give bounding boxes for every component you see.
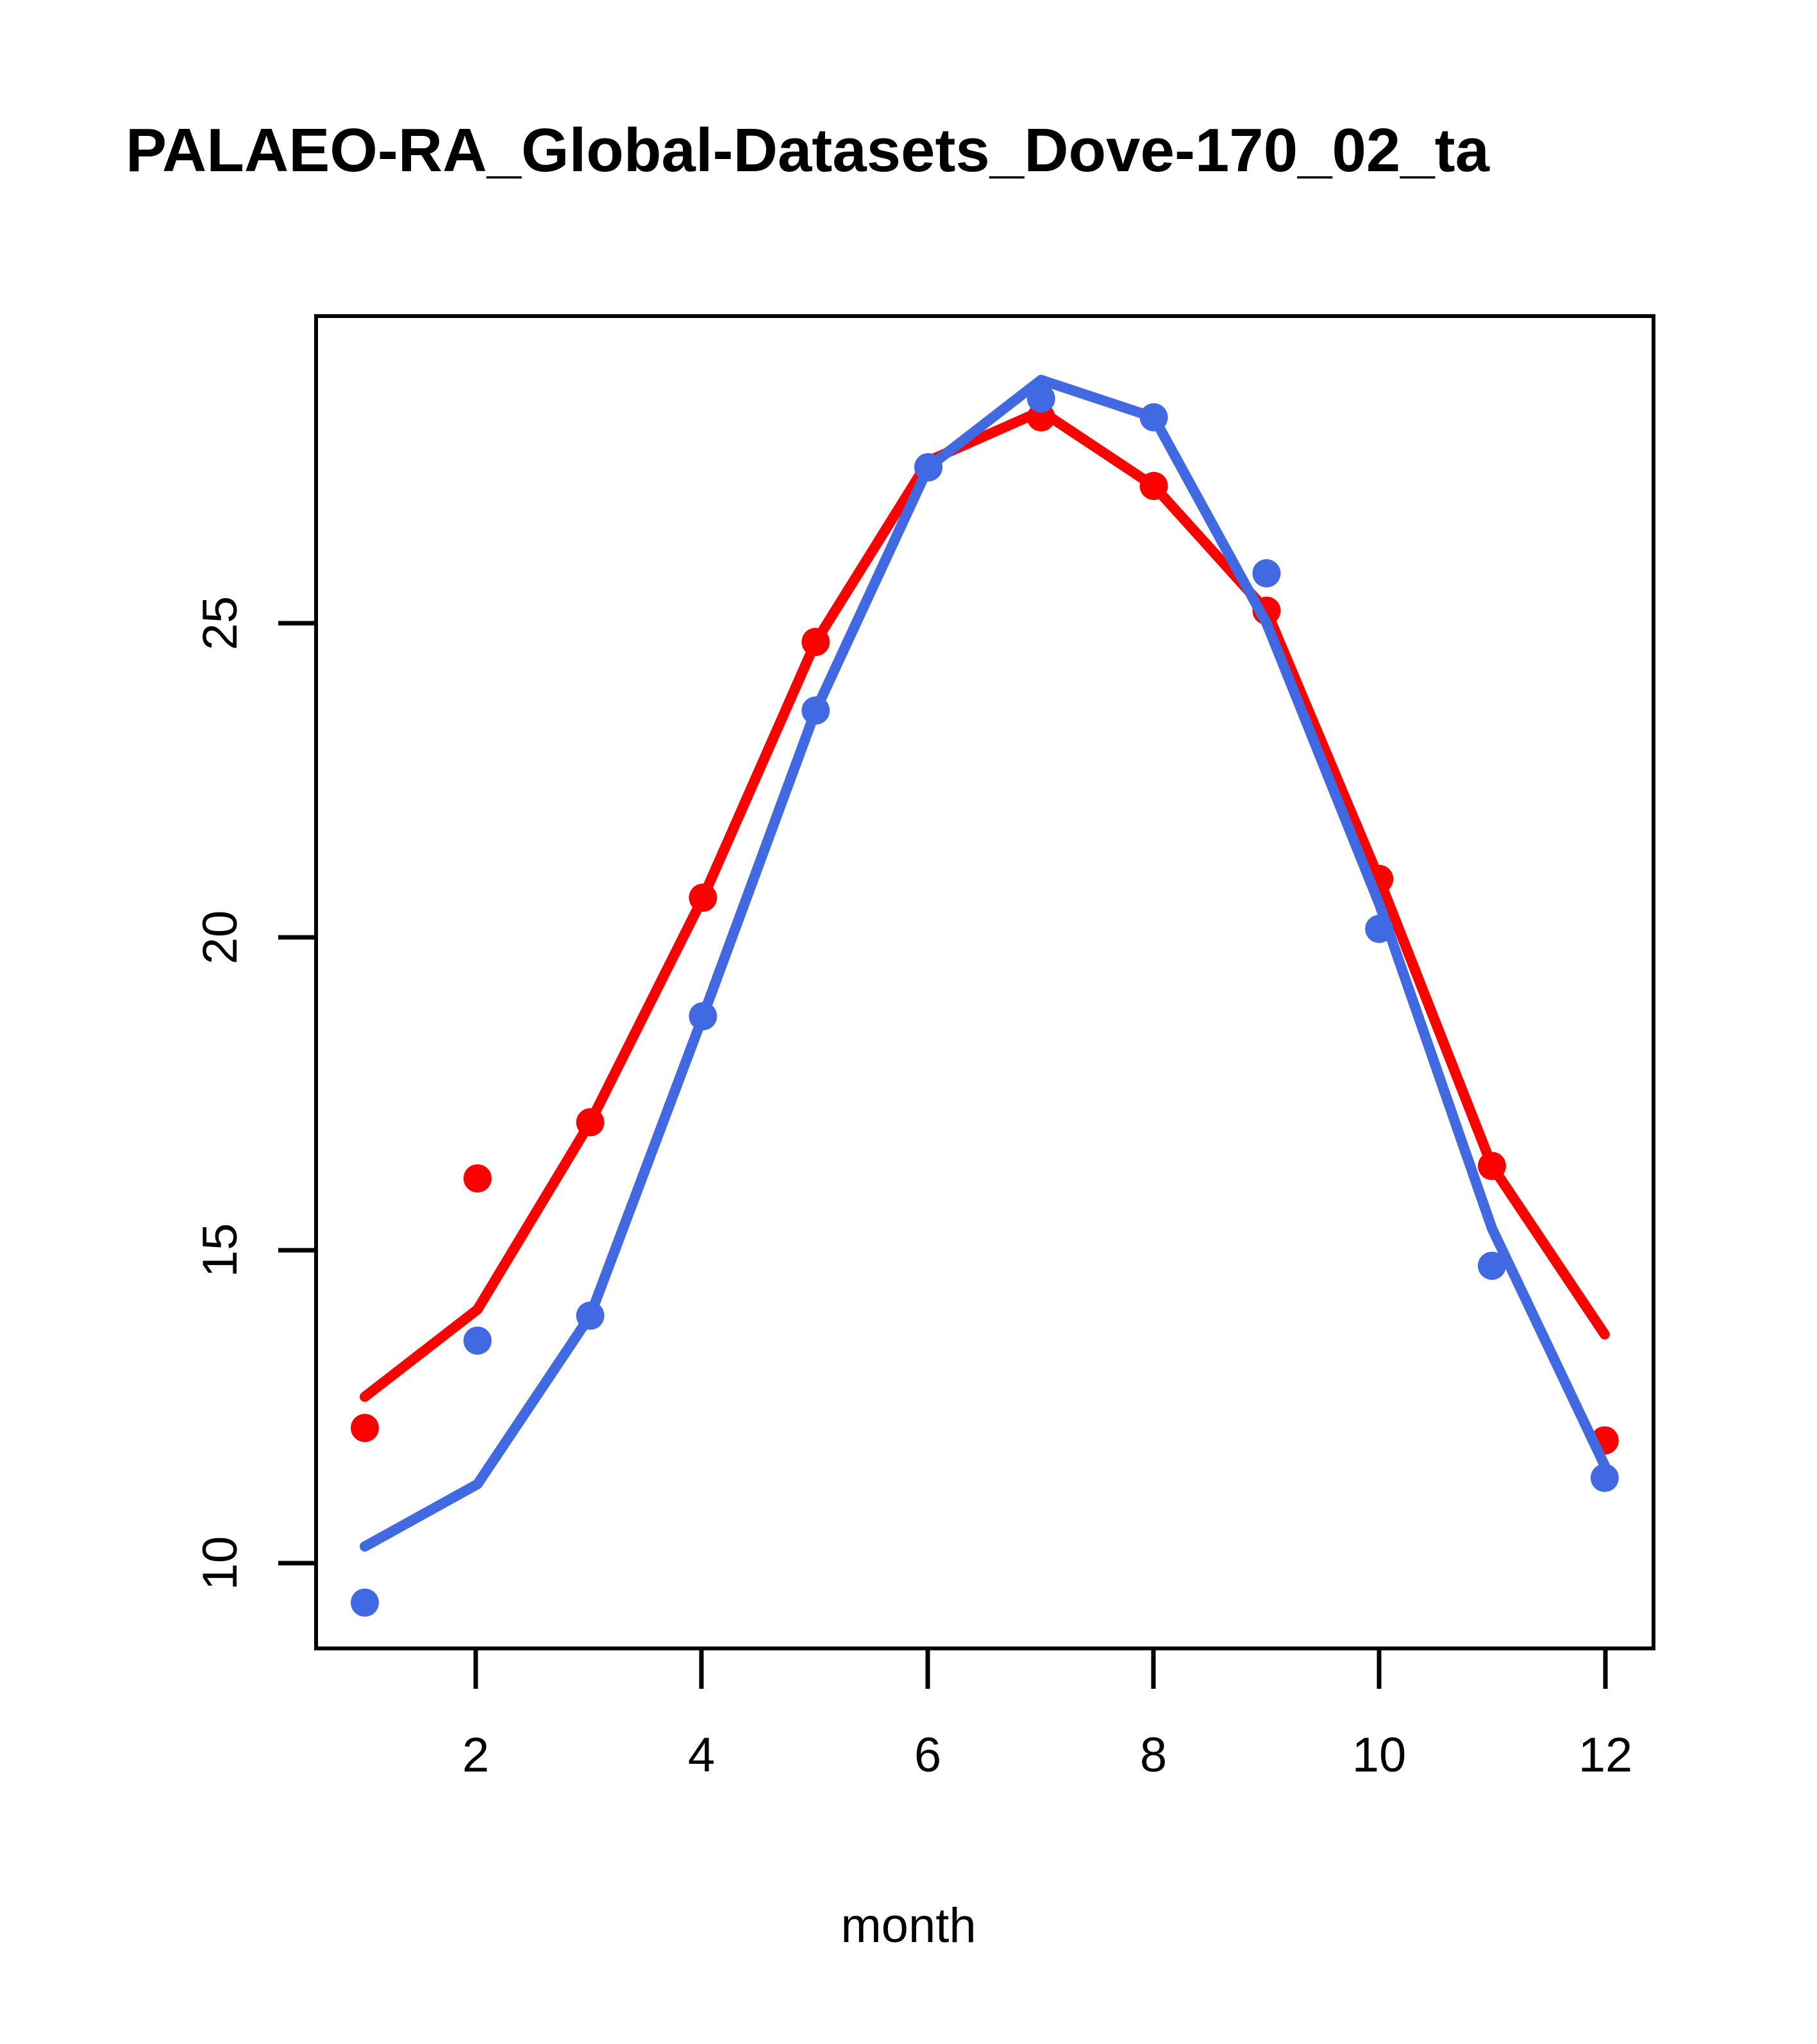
y-tick-label-10: 10 xyxy=(192,1499,249,1627)
y-tick-label-15: 15 xyxy=(192,1186,249,1314)
x-tick-label-12: 12 xyxy=(1541,1725,1670,1786)
page-title: PALAEO-RA_Global-Datasets_Dove-170_02_ta xyxy=(126,103,1817,199)
x-tick-label-2: 2 xyxy=(412,1725,540,1786)
x-tick-label-10: 10 xyxy=(1315,1725,1443,1786)
x-axis-ticks xyxy=(476,1650,1605,1689)
plot-figure: PALAEO-RA_Global-Datasets_Dove-170_02_ta… xyxy=(0,0,1817,2044)
x-tick-label-6: 6 xyxy=(864,1725,992,1786)
y-axis-ticks xyxy=(278,623,314,1563)
y-tick-label-25: 25 xyxy=(192,559,249,687)
plot-box xyxy=(314,314,1655,1650)
x-tick-label-4: 4 xyxy=(637,1725,766,1786)
y-tick-label-20: 20 xyxy=(192,873,249,1001)
x-tick-label-8: 8 xyxy=(1089,1725,1218,1786)
x-axis-label: month xyxy=(0,1898,1817,1954)
